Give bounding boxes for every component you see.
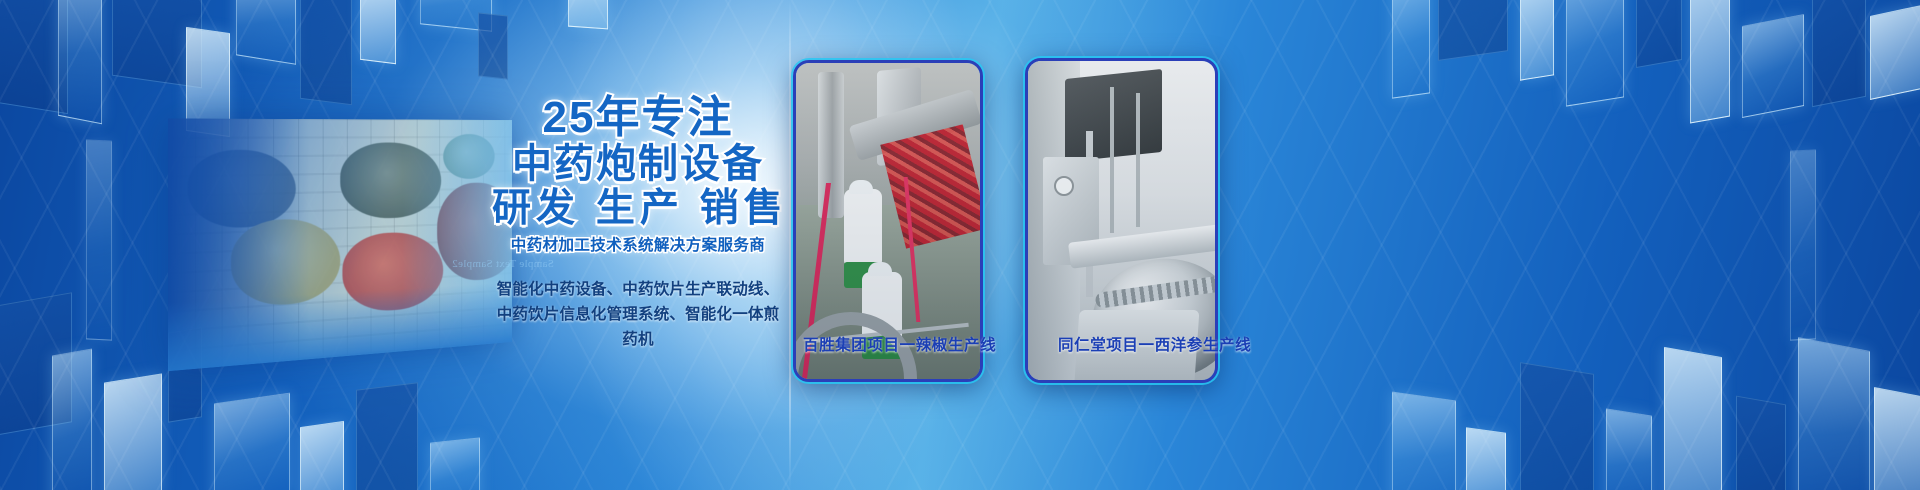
headline-block: 25年专注 中药炮制设备 研发 生产 销售 中药材加工技术系统解决方案服务商 智…: [492, 96, 784, 352]
headline-line-3: 研发 生产 销售: [492, 189, 784, 228]
photo-chili-production-line: [796, 63, 980, 379]
promo-banner: Sample Text Sample2 25年专注 中药炮制设备 研发 生产 销…: [0, 0, 1920, 490]
headline-line-1: 25年专注: [492, 96, 784, 140]
photo-caption-ginseng: 同仁堂项目一西洋参生产线: [1058, 333, 1251, 355]
photo-caption-chili: 百胜集团项目一辣椒生产线: [803, 333, 996, 355]
headline-line-2: 中药炮制设备: [492, 144, 784, 184]
headline-subline: 中药材加工技术系统解决方案服务商: [492, 233, 784, 255]
center-divider: [789, 0, 791, 490]
chinese-herbal-medicine-collage: [168, 118, 512, 371]
headline-description: 智能化中药设备、中药饮片生产联动线、中药饮片信息化管理系统、智能化一体煎药机: [492, 277, 784, 352]
